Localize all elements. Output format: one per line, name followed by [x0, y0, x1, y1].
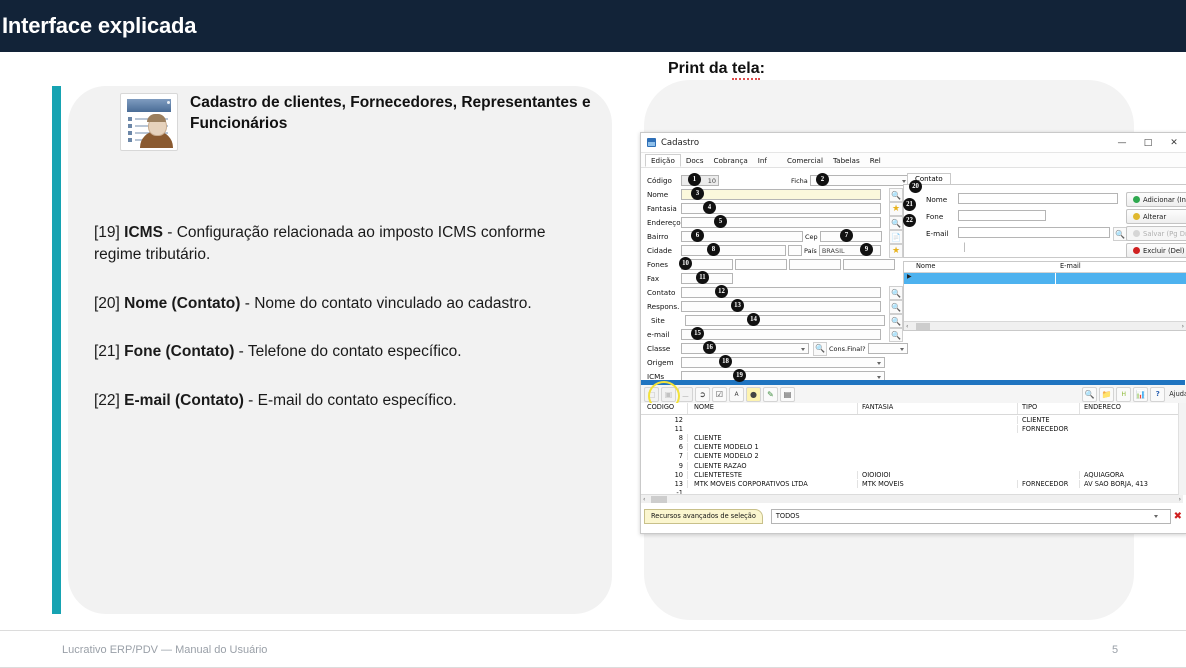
item-number: [22]: [94, 392, 120, 409]
col-tipo[interactable]: TIPO: [1017, 403, 1079, 414]
marker-2: 2: [816, 173, 829, 186]
print-label-a: Print da: [668, 60, 732, 77]
marker-22: 22: [903, 214, 916, 227]
records-grid[interactable]: CODIGO NOME FANTASIA TIPO ENDERECO 12CLI…: [641, 403, 1185, 503]
grid-hscrollbar[interactable]: ‹ ›: [641, 494, 1183, 503]
open-icon[interactable]: ▣: [661, 387, 676, 402]
menu-item-rel[interactable]: Rel: [865, 155, 886, 166]
marker-3: 3: [691, 187, 704, 200]
input-cons-final[interactable]: [868, 343, 908, 354]
label-origem: Origem: [647, 358, 681, 367]
label-codigo: Código: [647, 176, 681, 185]
item-term: Nome (Contato): [124, 295, 240, 312]
toolbar-right-group: 🔍 📁 H 📊 ? Ajuda: [1082, 387, 1186, 402]
list-item: [21] Fone (Contato) - Telefone do contat…: [94, 341, 594, 363]
item-term: E-mail (Contato): [124, 392, 244, 409]
table-row[interactable]: 6CLIENTE MODELO 1: [641, 443, 1185, 452]
card-header: Cadastro de clientes, Fornecedores, Repr…: [120, 93, 650, 151]
menu-item-tabelas[interactable]: Tabelas: [828, 155, 865, 166]
scroll-right-icon[interactable]: ›: [1182, 323, 1184, 330]
new-icon[interactable]: □: [644, 387, 659, 402]
form-area: Código 10 1 Ficha 2 Nome 3 Fantasia 4 En…: [641, 168, 1186, 383]
footer-text: Lucrativo ERP/PDV — Manual do Usuário: [62, 644, 267, 656]
print-label-b: tela: [732, 60, 760, 80]
report-icon[interactable]: 📊: [1133, 387, 1148, 402]
scroll-thumb[interactable]: [916, 323, 930, 330]
filter-select[interactable]: TODOS: [771, 509, 1171, 524]
input-fone-3[interactable]: [789, 259, 841, 270]
cell-tipo: CLIENTE: [1017, 416, 1079, 424]
adicionar-button[interactable]: Adicionar (Ins): [1126, 192, 1186, 207]
print-da-tela-label: Print da tela:: [668, 60, 765, 78]
label-nome: Nome: [647, 190, 681, 199]
marker-1: 1: [688, 173, 701, 186]
menu-item-docs[interactable]: Docs: [681, 155, 709, 166]
table-row[interactable]: 10CLIENTETESTEOIOIOIOIAQUIAGORA: [641, 470, 1185, 479]
label-site: Site: [647, 316, 685, 325]
cell-nome: MTK MOVEIS CORPORATIVOS LTDA: [687, 480, 857, 488]
label-endereco: Endereço: [647, 218, 681, 227]
contact-fields-box: Nome Fone E-mail 🔍 │ Adicionar (Ins) Alt…: [903, 184, 1186, 258]
marker-12: 12: [715, 285, 728, 298]
input-contato[interactable]: [681, 287, 881, 298]
cell-codigo: 8: [641, 434, 687, 442]
window-titlebar[interactable]: Cadastro — □ ✕: [641, 133, 1186, 153]
cell-tipo: FORNECEDOR: [1017, 480, 1079, 488]
minimize-button[interactable]: —: [1109, 133, 1135, 152]
marker-13: 13: [731, 299, 744, 312]
table-row[interactable]: 11FORNECEDOR: [641, 424, 1185, 433]
add-icon: [1133, 196, 1140, 203]
label-ficha: Ficha: [791, 177, 808, 185]
search-endereco-icon[interactable]: 🔍: [889, 216, 903, 230]
marker-8: 8: [707, 243, 720, 256]
page-number: 5: [1112, 644, 1118, 656]
input-email[interactable]: [681, 329, 881, 340]
cell-fantasia: OIOIOIOI: [857, 471, 1017, 479]
excluir-label: Excluir (Del): [1143, 247, 1185, 255]
input-respons[interactable]: [681, 301, 881, 312]
contact-grid-header: Nome E-mail: [904, 262, 1186, 273]
cell-nome: CLIENTE RAZAO: [687, 462, 857, 470]
input-fone-2[interactable]: [735, 259, 787, 270]
marker-6: 6: [691, 229, 704, 242]
grid-toolbar: □ ▣ ⚊ ➲ ☑ A ● ✎ ▤ 🔍 📁 H 📊 ? Ajuda: [641, 385, 1186, 404]
copy-icon[interactable]: ➲: [695, 387, 710, 402]
grid-scroll-left-icon[interactable]: ‹: [643, 496, 645, 503]
col-codigo[interactable]: CODIGO: [641, 403, 687, 414]
marker-18: 18: [719, 355, 732, 368]
save-icon: [1133, 230, 1140, 237]
table-row[interactable]: 9CLIENTE RAZAO: [641, 461, 1185, 470]
delete-icon[interactable]: ⚊: [678, 387, 693, 402]
grid-scroll-right-icon[interactable]: ›: [1179, 496, 1181, 503]
input-contact-nome[interactable]: [958, 193, 1118, 204]
search-nome-icon[interactable]: 🔍: [889, 188, 903, 202]
grid-header-row: CODIGO NOME FANTASIA TIPO ENDERECO: [641, 403, 1185, 415]
marker-10: 10: [679, 257, 692, 270]
cell-endereco: AQUIAGORA: [1079, 471, 1185, 479]
adicionar-label: Adicionar (Ins): [1143, 196, 1186, 204]
contact-card-icon: [120, 93, 178, 151]
cell-codigo: 12: [641, 416, 687, 424]
label-contact-email: E-mail: [926, 229, 949, 238]
item-desc: - Telefone do contato específico.: [234, 343, 461, 360]
window-title: Cadastro: [661, 138, 699, 148]
text-icon[interactable]: A: [729, 387, 744, 402]
table-row[interactable]: 12CLIENTE: [641, 415, 1185, 424]
input-origem[interactable]: [681, 357, 885, 368]
cell-nome: CLIENTE MODELO 1: [687, 443, 857, 451]
label-cidade: Cidade: [647, 246, 681, 255]
marker-19: 19: [733, 369, 746, 382]
marker-14: 14: [747, 313, 760, 326]
item-number: [20]: [94, 295, 120, 312]
check-icon[interactable]: ☑: [712, 387, 727, 402]
search-site-icon[interactable]: 🔍: [889, 314, 903, 328]
print-label-c: :: [760, 60, 765, 77]
cell-nome: CLIENTE: [687, 434, 857, 442]
input-site[interactable]: [685, 315, 885, 326]
contact-col-email: E-mail: [1056, 262, 1186, 272]
label-fones: Fones: [647, 260, 681, 269]
col-endereco[interactable]: ENDERECO: [1079, 403, 1185, 414]
label-pais: País: [804, 247, 817, 255]
marker-9: 9: [860, 243, 873, 256]
alterar-label: Alterar: [1143, 213, 1166, 221]
cell-codigo: 6: [641, 443, 687, 451]
list-item: [19] ICMS - Configuração relacionada ao …: [94, 222, 594, 267]
maximize-button[interactable]: □: [1135, 133, 1161, 152]
label-contato: Contato: [647, 288, 681, 297]
search-classe-icon[interactable]: 🔍: [813, 342, 827, 356]
item-desc: - Nome do contato vinculado ao cadastro.: [240, 295, 531, 312]
menu-bar: Edição Docs Cobrança Inf Comercial Tabel…: [641, 153, 1186, 168]
footer-divider-top: [0, 630, 1186, 631]
search-icon[interactable]: 🔍: [1082, 387, 1097, 402]
card-title: Cadastro de clientes, Fornecedores, Repr…: [190, 93, 635, 135]
cell-fantasia: MTK MOVEIS: [857, 480, 1017, 488]
table-row[interactable]: 7CLIENTE MODELO 2: [641, 452, 1185, 461]
highlight-icon[interactable]: H: [1116, 387, 1131, 402]
search-contato-icon[interactable]: 🔍: [889, 286, 903, 300]
cell-codigo: 13: [641, 480, 687, 488]
row-indicator-icon: ▶: [907, 273, 912, 280]
marker-16: 16: [703, 341, 716, 354]
window-controls: — □ ✕: [1109, 133, 1186, 152]
menu-item-cobranca[interactable]: Cobrança: [709, 155, 753, 166]
scroll-left-icon[interactable]: ‹: [906, 323, 908, 330]
item-number: [19]: [94, 224, 120, 241]
marker-21: 21: [903, 198, 916, 211]
label-respons: Respons.: [647, 302, 681, 311]
marker-5: 5: [714, 215, 727, 228]
label-cons-final: Cons.Final?: [829, 345, 866, 353]
contact-grid[interactable]: Nome E-mail ▶ ‹ ›: [903, 261, 1186, 331]
input-nome[interactable]: [681, 189, 881, 200]
input-cidade[interactable]: [681, 245, 786, 256]
folder-icon[interactable]: 📁: [1099, 387, 1114, 402]
item-term: ICMS: [124, 224, 163, 241]
contact-grid-row[interactable]: [904, 273, 1186, 284]
question-icon[interactable]: ?: [1150, 387, 1165, 402]
slide-header: Interface explicada: [0, 0, 1186, 52]
cell-codigo: 7: [641, 452, 687, 460]
grid-vscrollbar[interactable]: [1178, 403, 1186, 495]
cell-tipo: FORNECEDOR: [1017, 425, 1079, 433]
menu-item-comercial[interactable]: Comercial: [782, 155, 828, 166]
recursos-avancados-tab[interactable]: Recursos avançados de seleção: [644, 509, 763, 524]
label-fax: Fax: [647, 274, 681, 283]
input-contact-email[interactable]: [958, 227, 1110, 238]
contact-panel: Contato Nome Fone E-mail 🔍 │ Adicionar (…: [903, 173, 1186, 333]
input-fone-4[interactable]: [843, 259, 895, 270]
menu-item-edicao[interactable]: Edição: [645, 154, 681, 167]
caret-placeholder: │: [962, 243, 967, 252]
cell-nome: CLIENTE MODELO 2: [687, 452, 857, 460]
input-uf[interactable]: [788, 245, 802, 256]
item-desc: - E-mail do contato específico.: [244, 392, 457, 409]
page-title: Interface explicada: [0, 13, 196, 39]
salvar-label: Salvar (Pg Dn): [1143, 230, 1186, 238]
marker-11: 11: [696, 271, 709, 284]
app-icon: [647, 138, 656, 147]
contact-grid-hscrollbar[interactable]: ‹ ›: [904, 321, 1186, 330]
list-item: [20] Nome (Contato) - Nome do contato vi…: [94, 293, 594, 315]
table-row[interactable]: 13MTK MOVEIS CORPORATIVOS LTDAMTK MOVEIS…: [641, 479, 1185, 488]
col-nome[interactable]: NOME: [687, 403, 857, 414]
label-classe: Classe: [647, 344, 681, 353]
fill-icon[interactable]: ●: [746, 387, 761, 402]
label-cep: Cep: [805, 233, 818, 241]
left-accent-bar: [52, 86, 61, 614]
marker-4: 4: [703, 201, 716, 214]
table-row[interactable]: 8CLIENTE: [641, 433, 1185, 442]
delete-icon: [1133, 247, 1140, 254]
ajuda-label[interactable]: Ajuda: [1169, 390, 1186, 398]
favorite-pais-icon[interactable]: ★: [889, 244, 903, 258]
col-fantasia[interactable]: FANTASIA: [857, 403, 1017, 414]
grid-scroll-thumb[interactable]: [651, 496, 667, 503]
label-email: e-mail: [647, 330, 681, 339]
input-contact-fone[interactable]: [958, 210, 1046, 221]
item-number: [21]: [94, 343, 120, 360]
menu-item-inf[interactable]: Inf: [753, 155, 772, 166]
alterar-button[interactable]: Alterar: [1126, 209, 1186, 224]
favorite-fantasia-icon[interactable]: ★: [889, 202, 903, 216]
item-term: Fone (Contato): [124, 343, 234, 360]
search-contact-email-icon[interactable]: 🔍: [1113, 227, 1127, 241]
salvar-button: Salvar (Pg Dn): [1126, 226, 1186, 241]
cadastro-window: Cadastro — □ ✕ Edição Docs Cobrança Inf …: [640, 132, 1186, 534]
search-respons-icon[interactable]: 🔍: [889, 300, 903, 314]
brush-icon[interactable]: ✎: [763, 387, 778, 402]
input-classe[interactable]: [681, 343, 809, 354]
contact-col-nome: Nome: [904, 262, 1056, 272]
input-endereco[interactable]: [681, 217, 881, 228]
cell-codigo: 10: [641, 471, 687, 479]
edit-icon: [1133, 213, 1140, 220]
list-item: [22] E-mail (Contato) - E-mail do contat…: [94, 390, 594, 412]
close-button[interactable]: ✕: [1161, 133, 1186, 152]
search-email-icon[interactable]: 🔍: [889, 328, 903, 342]
copy-cep-icon[interactable]: 📄: [889, 230, 903, 244]
label-contact-fone: Fone: [926, 212, 943, 221]
marker-20: 20: [909, 180, 922, 193]
label-fantasia: Fantasia: [647, 204, 681, 213]
label-contact-nome: Nome: [926, 195, 947, 204]
cell-codigo: 9: [641, 462, 687, 470]
excluir-button[interactable]: Excluir (Del): [1126, 243, 1186, 258]
marker-15: 15: [691, 327, 704, 340]
label-bairro: Bairro: [647, 232, 681, 241]
cell-nome: CLIENTETESTE: [687, 471, 857, 479]
table-icon[interactable]: ▤: [780, 387, 795, 402]
cell-codigo: 11: [641, 425, 687, 433]
close-filter-icon[interactable]: ✖: [1174, 511, 1182, 522]
explanation-list: [19] ICMS - Configuração relacionada ao …: [94, 222, 594, 438]
marker-7: 7: [840, 229, 853, 242]
grid-body: 12CLIENTE11FORNECEDOR8CLIENTE6CLIENTE MO…: [641, 415, 1185, 498]
status-row: Recursos avançados de seleção TODOS ✖: [641, 509, 1185, 523]
cell-endereco: AV SAO BORJA, 413: [1079, 480, 1185, 488]
